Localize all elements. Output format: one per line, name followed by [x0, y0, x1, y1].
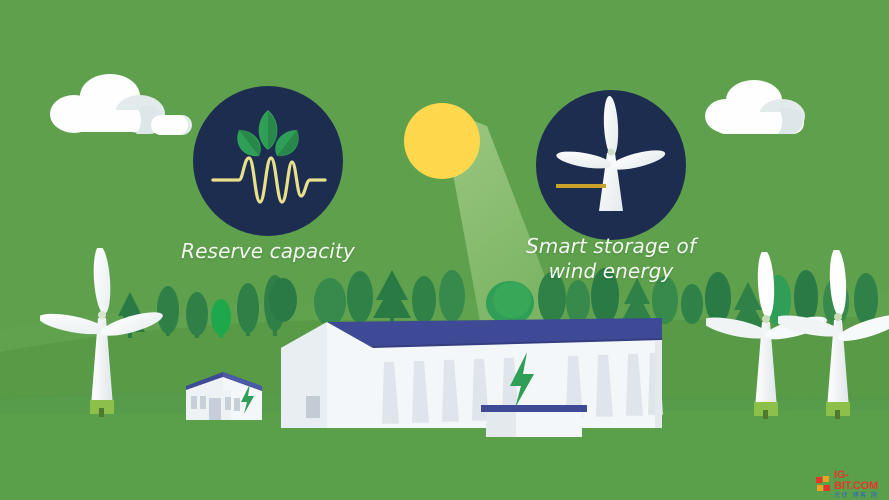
- turbine-hub: [98, 311, 106, 319]
- caption-smart-storage: Smart storage of wind energy: [511, 234, 711, 284]
- ig-bit-watermark: IG-BIT.COM 光伏 博客 网: [816, 470, 889, 499]
- gold-bar-icon: [556, 184, 606, 188]
- turbine-base-door: [99, 408, 104, 417]
- watermark-logo-icon: [816, 476, 831, 493]
- turbine-base-door: [763, 410, 768, 419]
- house-door: [209, 398, 221, 420]
- watermark-main-text: IG-BIT.COM: [834, 470, 889, 492]
- three-leaves-icon: [237, 110, 299, 156]
- leaves-and-waveform-icon: [193, 86, 343, 236]
- house-window: [191, 396, 197, 409]
- badge-reserve-capacity[interactable]: [193, 86, 343, 236]
- turbine-hub: [834, 313, 842, 321]
- turbine-base-door: [835, 410, 840, 419]
- turbine-hub: [608, 149, 615, 156]
- watermark-sub-text: 光伏 博客 网: [834, 493, 889, 499]
- turbine-blades: [778, 250, 889, 346]
- turbine-left: [40, 248, 170, 428]
- illustration-canvas: Reserve capacity Smart storage of wind e…: [0, 0, 889, 500]
- turbine-blades: [40, 248, 165, 341]
- house-window: [234, 398, 240, 411]
- wind-turbine-icon: [536, 90, 686, 240]
- sine-waveform-icon: [213, 158, 325, 202]
- caption-reserve-capacity: Reserve capacity: [168, 239, 368, 264]
- house-window: [225, 397, 231, 410]
- badge-smart-storage[interactable]: [536, 90, 686, 240]
- turbine-right-b: [778, 250, 889, 430]
- turbine-hub: [762, 315, 770, 323]
- house-window: [200, 396, 206, 409]
